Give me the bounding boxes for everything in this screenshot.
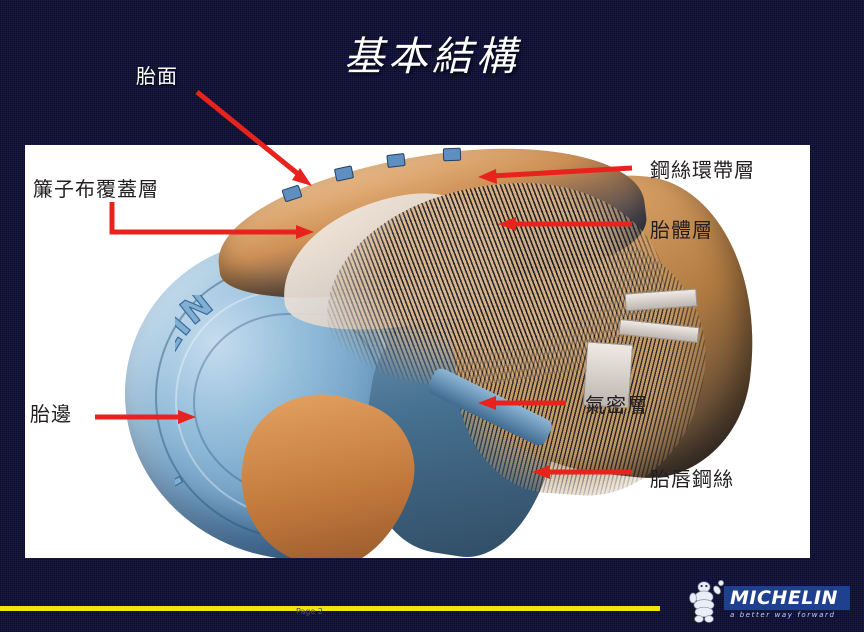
tread-block <box>386 153 405 168</box>
label-tread: 胎面 <box>136 60 178 89</box>
label-sidewall: 胎邊 <box>30 398 72 427</box>
label-cap-ply: 簾子布覆蓋層 <box>33 173 159 202</box>
slide: 基本結構 胎面 MICHELIN <box>0 0 864 632</box>
label-inner-liner: 氣密層 <box>585 389 648 418</box>
page-number: Page 2 <box>296 608 323 616</box>
michelin-logo: MICHELIN a better way forward <box>678 578 850 624</box>
label-steel-belt: 鋼絲環帶層 <box>650 154 755 183</box>
footer-rule <box>0 606 660 611</box>
logo-wordmark: MICHELIN <box>730 587 848 609</box>
tread-block <box>443 148 461 162</box>
bibendum-mascot-icon <box>682 578 730 624</box>
page-title: 基本結構 <box>0 24 864 82</box>
tire-illustration-panel: MICHELIN 簾子布覆蓋層 鋼絲環帶層 胎體層 氣密層 胎唇鋼絲 <box>25 145 810 558</box>
label-bead-wire: 胎唇鋼絲 <box>650 463 734 492</box>
label-carcass-ply: 胎體層 <box>650 214 713 243</box>
logo-tagline: a better way forward <box>730 611 836 619</box>
